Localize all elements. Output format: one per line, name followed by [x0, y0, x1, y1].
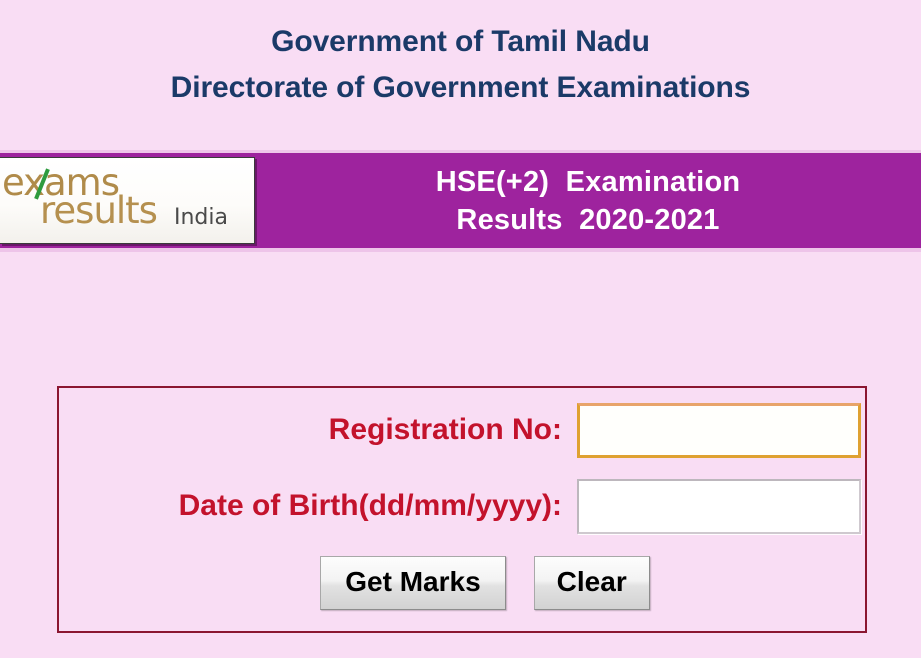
registration-number-row: Registration No:	[59, 401, 865, 459]
get-marks-button[interactable]: Get Marks	[320, 556, 505, 610]
date-of-birth-row: Date of Birth(dd/mm/yyyy):	[59, 477, 865, 535]
logo-word-results: results	[40, 192, 157, 230]
page-title-line-2: Directorate of Government Examinations	[0, 65, 921, 111]
registration-number-label: Registration No:	[59, 413, 577, 447]
logo-artwork: exams results India	[0, 158, 254, 243]
banner-heading-line-1: HSE(+2) Examination	[436, 163, 741, 201]
form-actions: Get Marks Clear	[59, 556, 865, 610]
banner-heading: HSE(+2) Examination Results 2020-2021	[255, 153, 921, 248]
exams-results-india-logo[interactable]: exams results India	[0, 157, 255, 244]
date-of-birth-label: Date of Birth(dd/mm/yyyy):	[59, 489, 577, 523]
date-of-birth-input[interactable]	[577, 479, 861, 534]
registration-number-input[interactable]	[577, 403, 861, 458]
logo-word-india: India	[174, 206, 228, 230]
form-rows: Registration No: Date of Birth(dd/mm/yyy…	[59, 388, 865, 631]
page-title-line-1: Government of Tamil Nadu	[0, 19, 921, 65]
exam-banner: exams results India HSE(+2) Examination …	[0, 153, 921, 248]
page-header: Government of Tamil Nadu Directorate of …	[0, 0, 921, 111]
clear-button[interactable]: Clear	[534, 556, 650, 610]
banner-heading-line-2: Results 2020-2021	[456, 201, 719, 239]
result-lookup-form: Registration No: Date of Birth(dd/mm/yyy…	[57, 386, 867, 633]
